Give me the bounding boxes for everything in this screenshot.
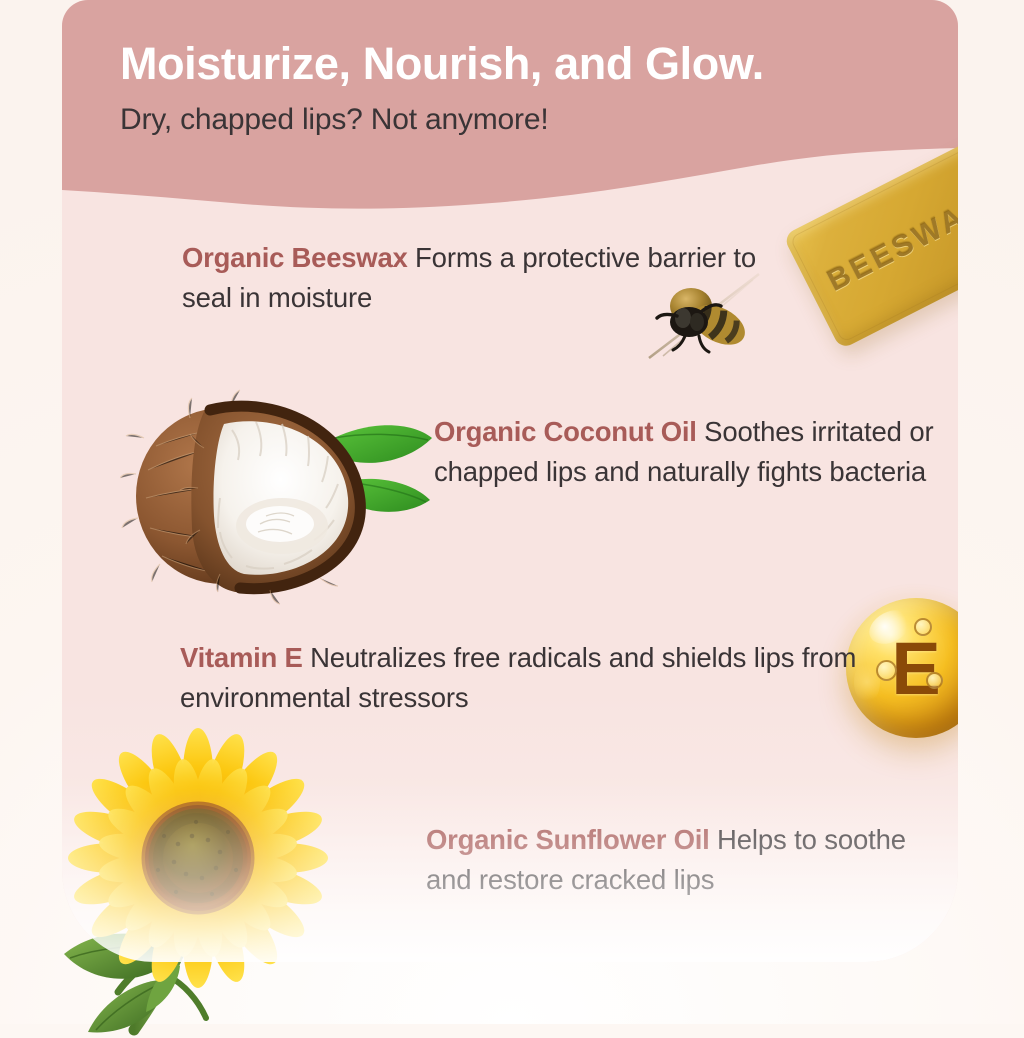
ingredient-name-beeswax: Organic Beeswax bbox=[182, 242, 408, 273]
ingredient-sunflower-oil: Organic Sunflower Oil Helps to soothe an… bbox=[426, 820, 956, 900]
vitamin-bubble bbox=[926, 672, 943, 689]
beeswax-bar-shape: BEESWAX bbox=[783, 138, 958, 350]
page-subtitle: Dry, chapped lips? Not anymore! bbox=[120, 103, 920, 136]
beeswax-bar-label: BEESWAX bbox=[783, 138, 958, 350]
ingredient-beeswax: Organic Beeswax Forms a protective barri… bbox=[182, 238, 802, 318]
vitamin-bubble bbox=[876, 660, 897, 681]
sunflower-icon bbox=[48, 748, 358, 1038]
ingredient-name-sunflower-oil: Organic Sunflower Oil bbox=[426, 824, 710, 855]
vitamin-bubble bbox=[914, 618, 932, 636]
ingredient-name-vitamin-e: Vitamin E bbox=[180, 642, 303, 673]
coconut-icon bbox=[120, 378, 440, 606]
ingredient-name-coconut-oil: Organic Coconut Oil bbox=[434, 416, 697, 447]
ingredient-coconut-oil: Organic Coconut Oil Soothes irritated or… bbox=[434, 412, 934, 492]
page-title: Moisturize, Nourish, and Glow. bbox=[120, 40, 920, 89]
header-text-block: Moisturize, Nourish, and Glow. Dry, chap… bbox=[120, 40, 920, 136]
page-canvas: Moisturize, Nourish, and Glow. Dry, chap… bbox=[0, 0, 1024, 1024]
ingredient-vitamin-e: Vitamin E Neutralizes free radicals and … bbox=[180, 638, 870, 718]
